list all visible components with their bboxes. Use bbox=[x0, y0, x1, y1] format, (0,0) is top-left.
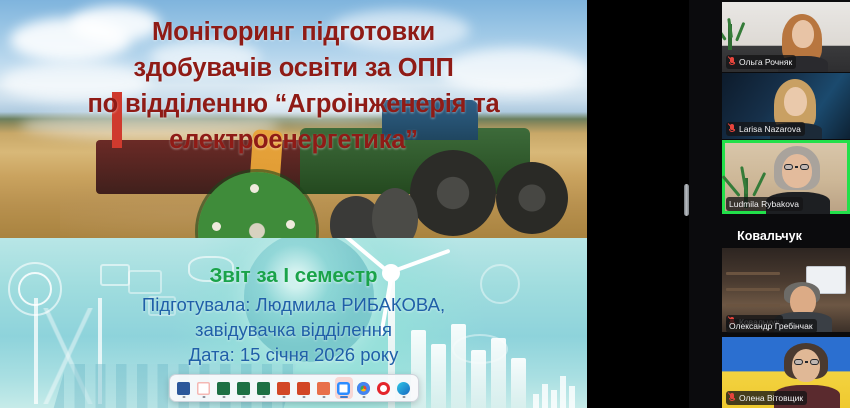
taskbar-chrome-icon[interactable] bbox=[355, 377, 373, 399]
share-gutter bbox=[587, 0, 687, 408]
powerpoint-icon-1 bbox=[277, 382, 290, 395]
windows-taskbar[interactable] bbox=[169, 374, 419, 402]
participant-tile[interactable]: Олександр Гребінчак bbox=[722, 316, 850, 336]
zoom-meeting-window: Моніторинг підготовки здобувачів освіти … bbox=[0, 0, 850, 408]
participant-tile[interactable]: Олена Вітовщик bbox=[722, 337, 850, 408]
taskbar-pdf-icon[interactable] bbox=[195, 377, 213, 399]
taskbar-running-indicator bbox=[302, 396, 305, 398]
chrome-icon bbox=[357, 382, 370, 395]
participant-tile[interactable]: Ольга Рочняк bbox=[722, 2, 850, 72]
taskbar-running-indicator bbox=[322, 396, 325, 398]
excel-icon-1 bbox=[217, 382, 230, 395]
taskbar-powerpoint-icon-3[interactable] bbox=[315, 377, 333, 399]
word-icon bbox=[177, 382, 190, 395]
slide-title-line-1: Моніторинг підготовки bbox=[18, 14, 569, 50]
slide-title: Моніторинг підготовки здобувачів освіти … bbox=[0, 14, 587, 158]
edge-icon bbox=[397, 382, 410, 395]
taskbar-running-indicator bbox=[222, 396, 225, 398]
taskbar-running-indicator bbox=[282, 396, 285, 398]
taskbar-word-icon[interactable] bbox=[175, 377, 193, 399]
taskbar-excel-icon-2[interactable] bbox=[235, 377, 253, 399]
slide-subtitle: Підготувала: Людмила РИБАКОВА, завідувач… bbox=[0, 292, 587, 367]
slide-title-line-3: по відділенню “Агроінженерія та bbox=[18, 86, 569, 122]
mic-muted-icon bbox=[729, 124, 736, 134]
taskbar-running-indicator bbox=[362, 396, 365, 398]
taskbar-powerpoint-icon-2[interactable] bbox=[295, 377, 313, 399]
taskbar-running-indicator bbox=[402, 396, 405, 398]
slide-subtitle-highlight: Звіт за I семестр bbox=[0, 264, 587, 288]
taskbar-excel-icon-1[interactable] bbox=[215, 377, 233, 399]
taskbar-running-indicator bbox=[242, 396, 245, 398]
participant-name-label: Ludmila Rybakova bbox=[726, 197, 803, 211]
participants-panel[interactable]: Ольга Рочняк Larisa Nazarova bbox=[689, 0, 850, 408]
shared-screen-stage[interactable]: Моніторинг підготовки здобувачів освіти … bbox=[0, 0, 587, 408]
taskbar-running-indicator bbox=[202, 396, 205, 398]
slide-title-line-2: здобувачів освіти за ОПП bbox=[18, 50, 569, 86]
participant-name-label: Олена Вітовщик bbox=[726, 391, 807, 405]
pdf-icon bbox=[197, 382, 210, 395]
slide-subtitle-line-1: Підготувала: Людмила РИБАКОВА, bbox=[0, 292, 587, 317]
presentation-slide: Моніторинг підготовки здобувачів освіти … bbox=[0, 0, 587, 408]
participant-name-label: Larisa Nazarova bbox=[726, 122, 805, 136]
taskbar-running-indicator bbox=[262, 396, 265, 398]
participant-name-label: Ольга Рочняк bbox=[726, 55, 796, 69]
mic-muted-icon bbox=[729, 57, 736, 67]
powerpoint-icon-2 bbox=[297, 382, 310, 395]
excel-icon-3 bbox=[257, 382, 270, 395]
opera-icon bbox=[377, 382, 390, 395]
slide-subtitle-line-3: Дата: 15 січня 2026 року bbox=[0, 342, 587, 367]
participant-name-label: Олександр Гребінчак bbox=[726, 319, 817, 333]
taskbar-powerpoint-icon-1[interactable] bbox=[275, 377, 293, 399]
taskbar-excel-icon-3[interactable] bbox=[255, 377, 273, 399]
slide-subtitle-line-2: завідувачка відділення bbox=[0, 317, 587, 342]
taskbar-running-indicator bbox=[182, 396, 185, 398]
panel-section-heading: Ковальчук bbox=[689, 229, 850, 243]
taskbar-opera-icon[interactable] bbox=[375, 377, 393, 399]
participant-tile-active-speaker[interactable]: Ludmila Rybakova bbox=[722, 140, 850, 214]
slide-title-line-4: електроенергетика” bbox=[18, 122, 569, 158]
taskbar-edge-icon[interactable] bbox=[395, 377, 413, 399]
taskbar-zoom-icon[interactable] bbox=[335, 377, 353, 399]
zoom-icon bbox=[337, 382, 350, 395]
excel-icon-2 bbox=[237, 382, 250, 395]
mic-muted-icon bbox=[729, 393, 736, 403]
participant-tile[interactable]: Larisa Nazarova bbox=[722, 73, 850, 139]
taskbar-running-indicator bbox=[340, 396, 348, 398]
powerpoint-icon-3 bbox=[317, 382, 330, 395]
